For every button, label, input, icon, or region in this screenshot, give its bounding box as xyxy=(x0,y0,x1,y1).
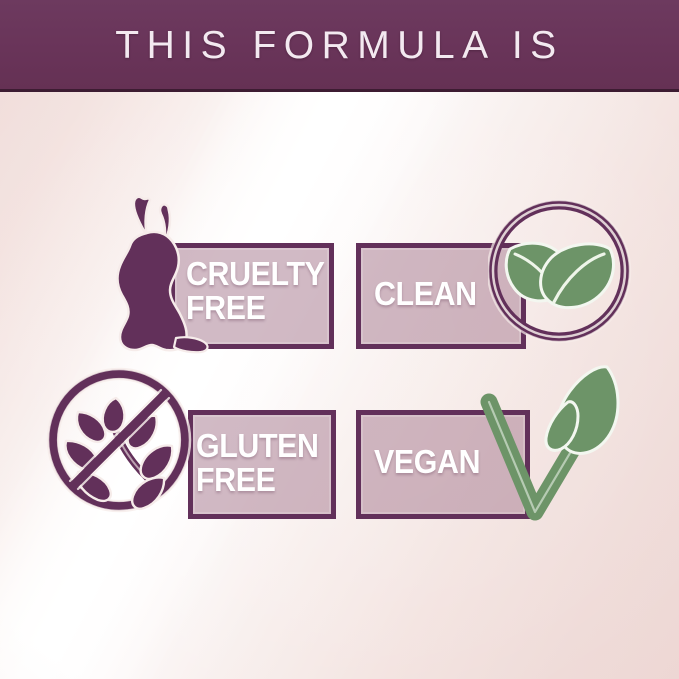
badge-label-cruelty-free: CRUELTY FREE xyxy=(186,257,333,324)
badge-label-gluten-free: GLUTEN FREE xyxy=(196,429,334,496)
header-divider xyxy=(0,89,679,92)
page-title: THIS FORMULA IS xyxy=(0,24,679,68)
badge-label-clean: CLEAN xyxy=(374,277,521,311)
background-vignette xyxy=(0,0,679,679)
product-claims-graphic: THIS FORMULA IS CRUELTY FREE CLEAN xyxy=(0,0,679,679)
badge-label-vegan: VEGAN xyxy=(374,445,530,479)
